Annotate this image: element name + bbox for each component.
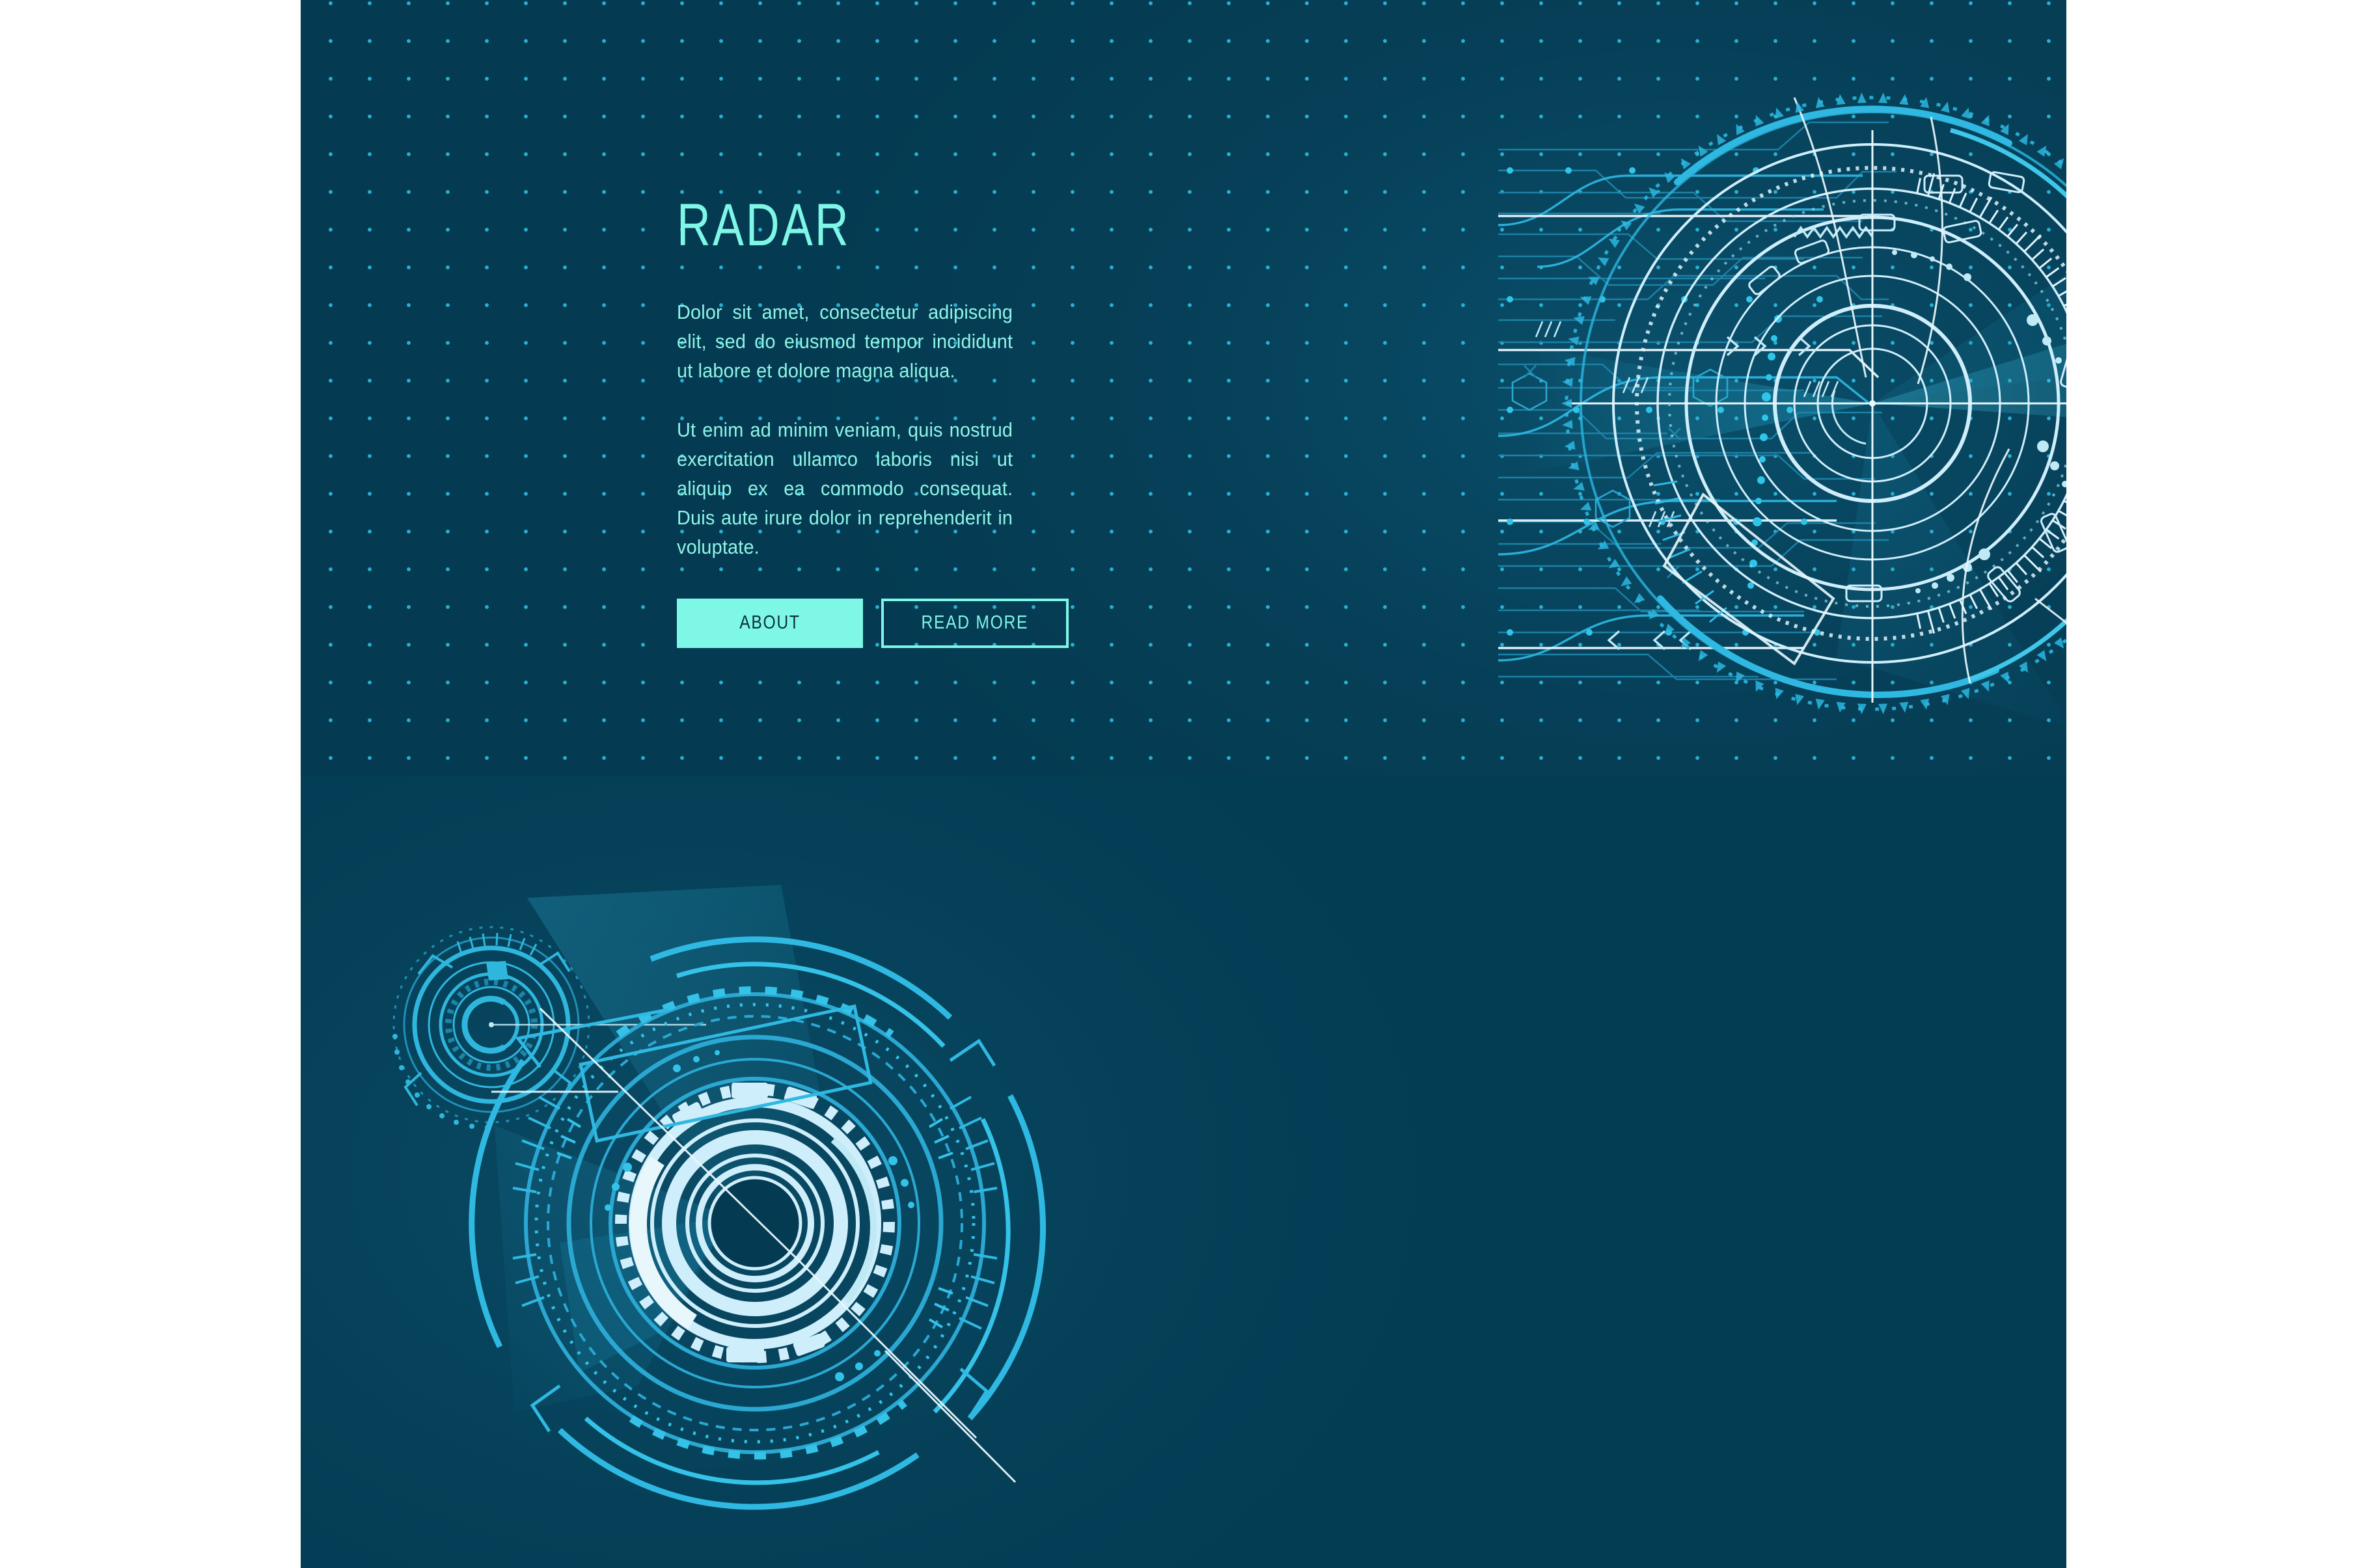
about-button-top-label: ABOUT	[739, 612, 800, 634]
banner-section-top: RADAR Dolor sit amet, consectetur adipis…	[301, 0, 2066, 776]
about-button-top[interactable]: ABOUT	[677, 599, 863, 648]
radar-hud-circuit-graphic	[1498, 72, 2066, 735]
content-block-top: RADAR Dolor sit amet, consectetur adipis…	[677, 195, 1458, 648]
radar-dual-dial-graphic	[364, 878, 1093, 1535]
paragraph-1-top: Dolor sit amet, consectetur adipiscing e…	[677, 298, 1013, 386]
read-more-button-top[interactable]: READ MORE	[881, 599, 1069, 648]
page-canvas: RADAR Dolor sit amet, consectetur adipis…	[0, 0, 2369, 1568]
read-more-button-top-label: READ MORE	[922, 612, 1029, 634]
banner-section-bottom: RADAR Dolor sit amet, consectetur adipis…	[301, 776, 2066, 1568]
paragraph-2-top: Ut enim ad minim veniam, quis nostrud ex…	[677, 416, 1013, 562]
button-row-top: ABOUT READ MORE	[677, 599, 1458, 648]
page-title-top: RADAR	[677, 195, 1286, 255]
